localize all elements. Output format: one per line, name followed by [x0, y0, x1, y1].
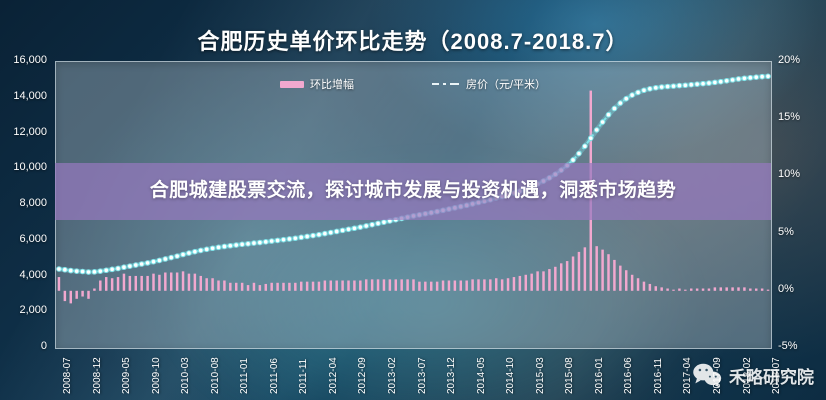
price-point: [104, 268, 109, 273]
bar: [566, 261, 568, 291]
price-point: [263, 240, 268, 245]
price-point: [240, 242, 245, 247]
bar: [70, 291, 72, 304]
legend-bar-label: 环比增幅: [310, 76, 354, 92]
price-point: [577, 151, 582, 156]
x-axis-tick: 2014-10: [505, 357, 516, 394]
x-axis-tick: 2013-02: [387, 357, 398, 394]
y-axis-left-tick: 10,000: [3, 161, 47, 173]
bar: [737, 287, 739, 290]
bar: [448, 281, 450, 291]
bar: [708, 289, 710, 291]
bar: [513, 277, 515, 291]
x-axis-tick: 2013-12: [446, 357, 457, 394]
bar: [158, 275, 160, 291]
bar: [282, 283, 284, 291]
x-axis-tick: 2015-08: [564, 357, 575, 394]
bar: [519, 276, 521, 291]
bar: [767, 290, 769, 291]
bar: [188, 274, 190, 291]
price-point: [600, 120, 605, 125]
price-point: [74, 269, 79, 274]
bar: [495, 278, 497, 291]
price-point: [252, 241, 257, 246]
bar: [294, 283, 296, 291]
bar: [75, 291, 77, 299]
legend-bar-swatch: [280, 81, 304, 88]
bar: [649, 284, 651, 291]
x-axis-tick: 2016-11: [653, 358, 664, 394]
bar: [135, 276, 137, 291]
price-point: [92, 270, 97, 275]
bar: [525, 275, 527, 291]
bar: [182, 271, 184, 290]
y-axis-left-tick: 2,000: [3, 304, 47, 316]
bar: [341, 281, 343, 291]
price-point: [317, 232, 322, 237]
bar: [318, 282, 320, 291]
bar: [324, 281, 326, 291]
bar: [678, 289, 680, 291]
bar: [129, 276, 131, 291]
bar: [111, 278, 113, 291]
legend-item-line: 房价（元/平米）: [432, 76, 546, 92]
bar: [270, 283, 272, 291]
x-axis-tick: 2011-01: [239, 358, 250, 394]
bar: [714, 287, 716, 290]
price-point: [122, 265, 127, 270]
bar: [205, 278, 207, 291]
bar: [412, 279, 414, 290]
bar: [353, 281, 355, 291]
x-axis-tick: 2016-01: [594, 357, 605, 394]
price-point: [86, 270, 91, 275]
x-axis-tick: 2014-05: [476, 357, 487, 394]
x-axis-tick: 2010-08: [210, 357, 221, 394]
bar: [460, 281, 462, 291]
y-axis-right-tick: 20%: [778, 54, 800, 66]
x-axis-tick: 2011-11: [298, 359, 309, 394]
bar: [288, 283, 290, 291]
bar: [259, 285, 261, 291]
bar: [241, 283, 243, 291]
bar: [607, 254, 609, 291]
x-axis-tick: 2016-06: [623, 357, 634, 394]
bar: [265, 284, 267, 291]
price-point: [57, 267, 62, 272]
bar: [613, 260, 615, 291]
price-point: [204, 247, 209, 252]
bar: [637, 278, 639, 291]
bar: [211, 278, 213, 291]
wechat-icon: [692, 362, 722, 388]
legend-line-swatch: [432, 79, 460, 89]
bar: [702, 289, 704, 291]
price-point: [157, 258, 162, 263]
bar: [359, 281, 361, 291]
bar: [601, 250, 603, 291]
bar: [731, 287, 733, 290]
bar: [377, 279, 379, 290]
y-axis-left-tick: 4,000: [3, 269, 47, 281]
bar: [631, 275, 633, 291]
y-axis-right-tick: -5%: [778, 340, 798, 352]
x-axis-tick: 2011-06: [269, 358, 280, 394]
legend-item-bar: 环比增幅: [280, 76, 354, 92]
bar: [554, 267, 556, 291]
y-axis-left-tick: 6,000: [3, 233, 47, 245]
price-point: [175, 254, 180, 259]
bar: [572, 256, 574, 290]
price-point: [334, 229, 339, 234]
bar: [471, 279, 473, 290]
bar: [655, 286, 657, 291]
y-axis-left-tick: 8,000: [3, 197, 47, 209]
price-point: [145, 261, 150, 266]
y-axis-right-tick: 10%: [778, 168, 800, 180]
bar: [217, 281, 219, 291]
bar: [229, 283, 231, 291]
bar: [548, 269, 550, 291]
price-point: [193, 249, 198, 254]
bar: [690, 289, 692, 291]
bar: [672, 290, 674, 291]
price-point: [305, 234, 310, 239]
price-point: [583, 144, 588, 149]
bar: [442, 281, 444, 291]
bar: [424, 282, 426, 291]
watermark-text: 禾略研究院: [729, 363, 814, 388]
bar: [454, 281, 456, 291]
price-point: [110, 267, 115, 272]
price-point: [594, 128, 599, 133]
bar: [146, 276, 148, 291]
bar: [300, 282, 302, 291]
price-point: [624, 96, 629, 101]
bar: [87, 291, 89, 299]
bar: [152, 274, 154, 291]
bar: [99, 281, 101, 291]
bar: [430, 282, 432, 291]
price-point: [364, 224, 369, 229]
price-point: [370, 222, 375, 227]
price-point: [169, 255, 174, 260]
price-point: [151, 259, 156, 264]
bar: [335, 281, 337, 291]
chart-legend: 环比增幅 房价（元/平米）: [0, 76, 826, 92]
bar: [253, 283, 255, 291]
price-point: [376, 221, 381, 226]
x-axis-tick: 2012-04: [328, 357, 339, 394]
price-point: [299, 235, 304, 240]
bar: [105, 277, 107, 291]
bar: [170, 273, 172, 291]
x-axis-tick: 2012-09: [357, 357, 368, 394]
y-axis-right-tick: 15%: [778, 111, 800, 123]
screenshot-root: 合肥历史单价环比走势（2008.7-2018.7） 环比增幅 房价（元/平米） …: [0, 0, 826, 400]
price-point: [358, 225, 363, 230]
price-point: [139, 262, 144, 267]
bar: [306, 282, 308, 291]
bar: [465, 281, 467, 291]
bar: [383, 279, 385, 290]
bar: [117, 277, 119, 291]
price-point: [187, 251, 192, 256]
x-axis-tick: 2015-03: [535, 357, 546, 394]
bar: [81, 291, 83, 297]
chart-title: 合肥历史单价环比走势（2008.7-2018.7）: [0, 24, 826, 56]
bar: [477, 279, 479, 290]
legend-line-label: 房价（元/平米）: [466, 76, 546, 92]
bar: [501, 279, 503, 290]
bar: [123, 274, 125, 291]
x-axis-tick: 2009-05: [121, 357, 132, 394]
bar: [140, 276, 142, 291]
bar: [436, 282, 438, 291]
bar: [223, 281, 225, 291]
price-point: [571, 158, 576, 163]
y-axis-right-tick: 5%: [778, 226, 794, 238]
bar: [643, 282, 645, 291]
bar: [743, 287, 745, 290]
watermark: 禾略研究院: [692, 362, 814, 388]
x-axis-tick: 2010-03: [180, 357, 191, 394]
bar: [684, 290, 686, 291]
bar: [489, 279, 491, 290]
bar: [578, 252, 580, 291]
bar: [330, 281, 332, 291]
bar: [200, 276, 202, 291]
price-point: [80, 269, 85, 274]
price-point: [323, 231, 328, 236]
bar: [247, 285, 249, 291]
bar: [507, 278, 509, 291]
bar: [365, 279, 367, 290]
bar: [625, 270, 627, 291]
price-point: [198, 248, 203, 253]
price-point: [246, 241, 251, 246]
price-point: [216, 245, 221, 250]
price-point: [222, 244, 227, 249]
x-axis-tick: 2009-10: [151, 357, 162, 394]
price-point: [228, 243, 233, 248]
bar: [720, 287, 722, 290]
bar: [194, 274, 196, 291]
overlay-banner: 合肥城建股票交流，探讨城市发展与投资机遇，洞悉市场趋势: [55, 163, 771, 220]
price-point: [133, 263, 138, 268]
price-point: [618, 101, 623, 106]
bar: [536, 271, 538, 290]
price-point: [382, 220, 387, 225]
bar: [725, 287, 727, 290]
price-point: [281, 237, 286, 242]
bar: [584, 247, 586, 290]
bar: [312, 282, 314, 291]
price-point: [293, 236, 298, 241]
bar: [542, 271, 544, 290]
price-point: [275, 238, 280, 243]
price-point: [346, 227, 351, 232]
bar: [164, 273, 166, 291]
price-point: [269, 239, 274, 244]
bar: [235, 283, 237, 291]
y-axis-right-tick: 0%: [778, 283, 794, 295]
price-point: [181, 252, 186, 257]
bar: [595, 246, 597, 291]
bar: [395, 279, 397, 290]
bar: [660, 287, 662, 290]
price-point: [588, 136, 593, 141]
price-point: [68, 268, 73, 273]
x-axis-tick: 2013-07: [417, 357, 428, 394]
y-axis-left-tick: 0: [3, 340, 47, 352]
bar: [530, 274, 532, 291]
bar: [400, 279, 402, 290]
bar: [761, 289, 763, 291]
price-point: [234, 243, 239, 248]
price-point: [612, 106, 617, 111]
price-point: [210, 246, 215, 251]
x-axis-tick: 2008-07: [62, 357, 73, 394]
y-axis-left-tick: 16,000: [3, 54, 47, 66]
bar: [696, 289, 698, 291]
bar: [749, 289, 751, 291]
overlay-text: 合肥城建股票交流，探讨城市发展与投资机遇，洞悉市场趋势: [73, 177, 753, 206]
price-point: [98, 269, 103, 274]
bar: [64, 291, 66, 301]
price-point: [116, 266, 121, 271]
x-axis-tick: 2008-12: [92, 357, 103, 394]
y-axis-left-tick: 12,000: [3, 126, 47, 138]
bar: [418, 282, 420, 291]
bar: [406, 279, 408, 290]
bar: [58, 277, 60, 291]
bar: [276, 283, 278, 291]
price-point: [63, 267, 68, 272]
price-point: [328, 230, 333, 235]
bar: [347, 281, 349, 291]
price-point: [340, 228, 345, 233]
bar: [389, 279, 391, 290]
bar: [755, 289, 757, 291]
bar: [371, 279, 373, 290]
bar: [666, 289, 668, 291]
price-point: [287, 237, 292, 242]
y-axis-left-tick: 14,000: [3, 90, 47, 102]
bar: [619, 266, 621, 291]
price-point: [258, 240, 263, 245]
price-point: [163, 257, 168, 262]
price-point: [311, 233, 316, 238]
bar: [483, 279, 485, 290]
price-point: [630, 93, 635, 98]
price-point: [606, 112, 611, 117]
bar: [93, 289, 95, 291]
price-point: [128, 264, 133, 269]
price-point: [352, 226, 357, 231]
bar: [560, 263, 562, 290]
bar: [176, 273, 178, 291]
